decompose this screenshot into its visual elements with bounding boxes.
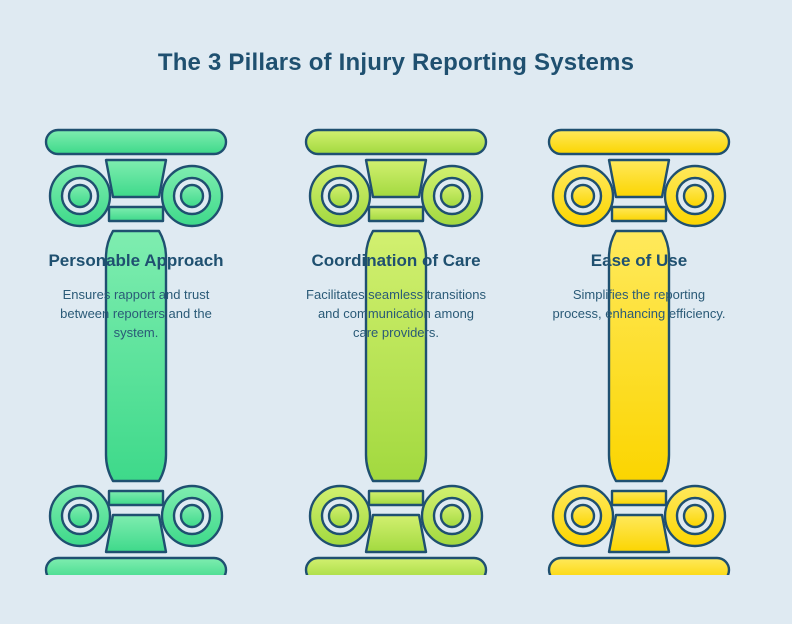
ionic-column-icon <box>16 125 256 575</box>
pillar-coordination-of-care[interactable]: Coordination of Care Facilitates seamles… <box>276 125 516 575</box>
ionic-column-icon <box>519 125 759 575</box>
ionic-column-icon <box>276 125 516 575</box>
page-title: The 3 Pillars of Injury Reporting System… <box>0 48 792 78</box>
pillar-personable-approach[interactable]: Personable Approach Ensures rapport and … <box>16 125 256 575</box>
pillar-ease-of-use[interactable]: Ease of Use Simplifies the reporting pro… <box>519 125 759 575</box>
infographic-poster: The 3 Pillars of Injury Reporting System… <box>0 0 792 624</box>
